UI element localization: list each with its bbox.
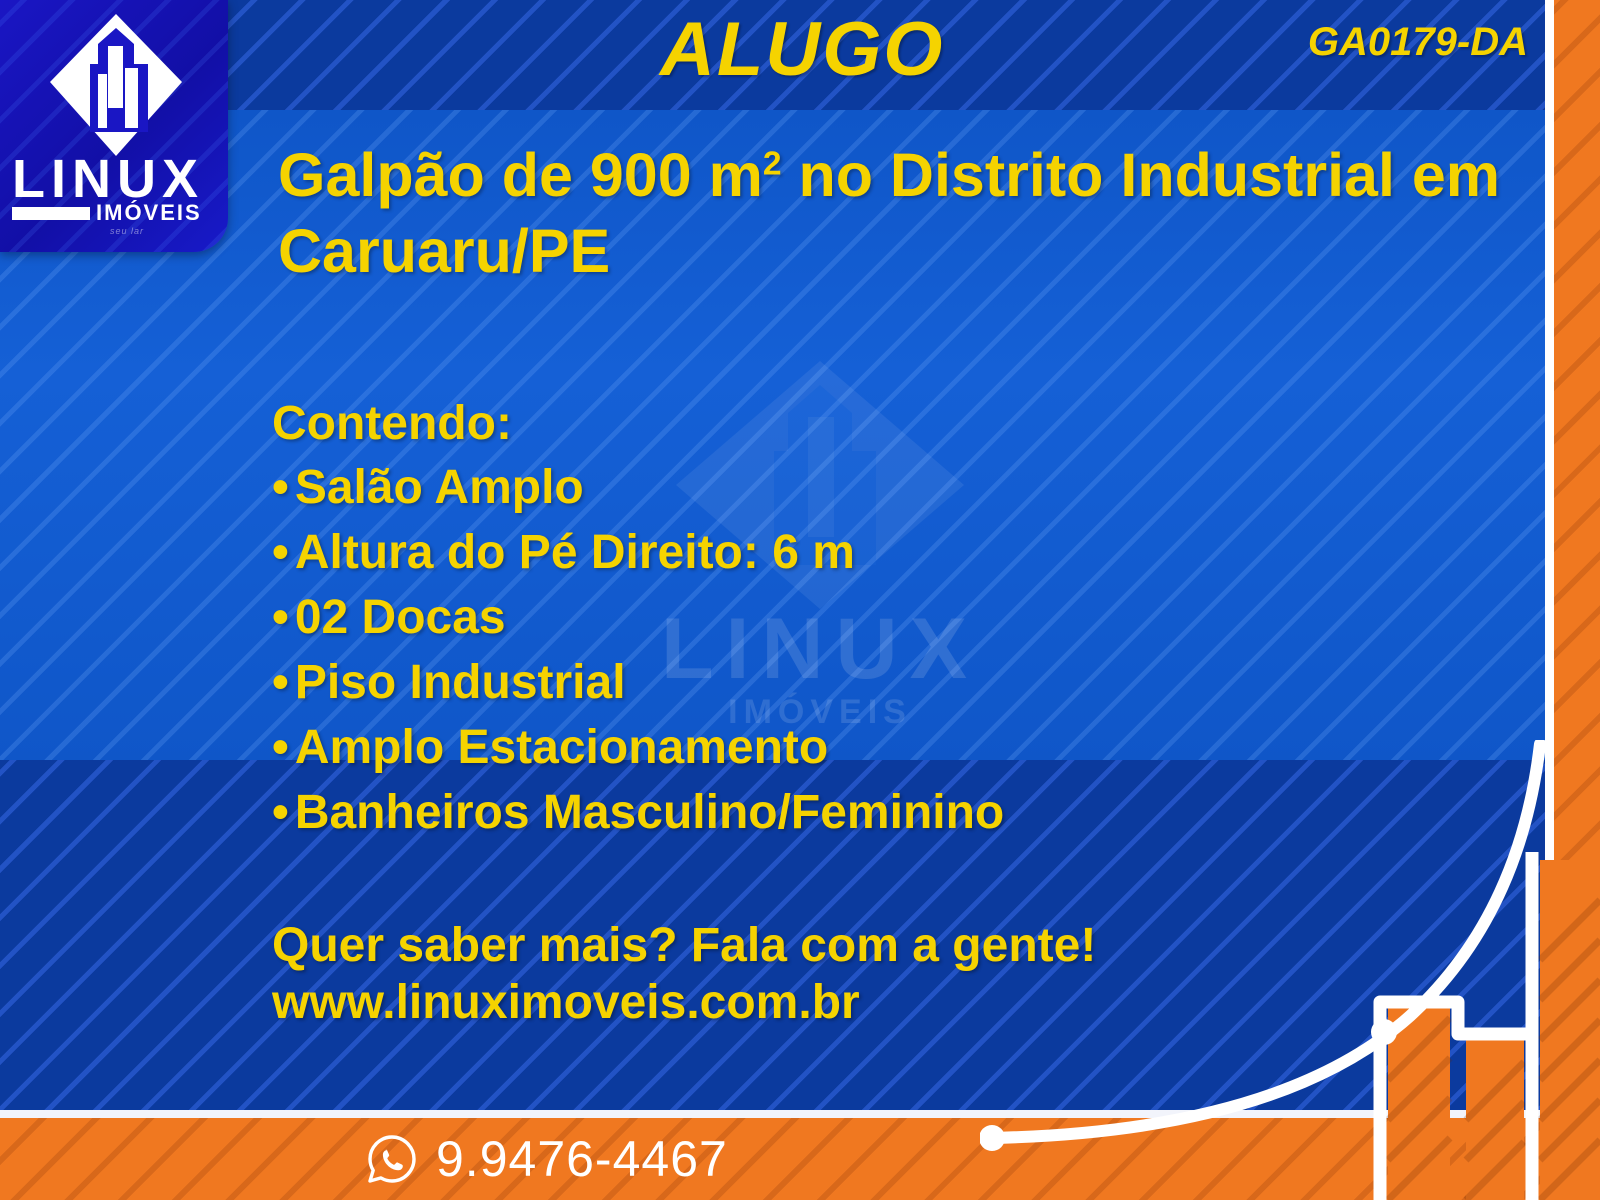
contact-bar: 9.9476-4467 (0, 1118, 1600, 1200)
list-item-label: Piso Industrial (295, 656, 626, 709)
contact-bar-divider (0, 1110, 1600, 1118)
reference-code: GA0179-DA (1308, 22, 1528, 62)
bullet-icon: • (272, 721, 289, 774)
headline-line1-after: no Distrito Industrial em (782, 141, 1501, 209)
rental-advertisement-poster: LINUX IMÓVEIS LINUX IMÓVEIS seu lar ALUG… (0, 0, 1600, 1200)
phone-number[interactable]: 9.9476-4467 (436, 1134, 728, 1184)
logo-rule-bar (12, 207, 90, 220)
bullet-icon: • (272, 461, 289, 514)
deal-type-title: ALUGO (660, 12, 944, 88)
logo-wordmark: LINUX (12, 152, 216, 206)
bullet-icon: • (272, 786, 289, 839)
bullet-icon: • (272, 526, 289, 579)
features-section: Contendo: •Salão Amplo •Altura do Pé Dir… (272, 400, 1422, 854)
company-logo-badge[interactable]: LINUX IMÓVEIS seu lar (0, 0, 228, 252)
logo-subtitle-row: IMÓVEIS (12, 202, 218, 224)
list-item: •02 Docas (272, 594, 1422, 642)
list-item: •Banheiros Masculino/Feminino (272, 789, 1422, 837)
website-url[interactable]: www.linuximoveis.com.br (272, 975, 1096, 1032)
list-item: •Amplo Estacionamento (272, 724, 1422, 772)
right-rail-separator (1545, 0, 1554, 1120)
list-item-label: Banheiros Masculino/Feminino (295, 786, 1004, 839)
property-headline: Galpão de 900 m2 no Distrito Industrial … (278, 138, 1508, 289)
bullet-icon: • (272, 591, 289, 644)
cta-question: Quer saber mais? Fala com a gente! (272, 918, 1096, 975)
headline-line1-before: Galpão de 900 m (278, 141, 763, 209)
right-orange-rail (1554, 0, 1600, 1120)
list-item: •Altura do Pé Direito: 6 m (272, 529, 1422, 577)
features-label: Contendo: (272, 400, 1422, 448)
whatsapp-icon[interactable] (366, 1133, 418, 1185)
headline-superscript: 2 (763, 146, 782, 183)
diagonal-stripe-texture (0, 1118, 1600, 1200)
list-item: •Piso Industrial (272, 659, 1422, 707)
headline-line2: Caruaru/PE (278, 217, 610, 285)
logo-subtitle: IMÓVEIS (96, 202, 202, 224)
list-item-label: Amplo Estacionamento (295, 721, 828, 774)
list-item-label: Salão Amplo (295, 461, 584, 514)
list-item-label: 02 Docas (295, 591, 506, 644)
building-diamond-icon (46, 10, 186, 160)
bullet-icon: • (272, 656, 289, 709)
diagonal-stripe-texture (1554, 0, 1600, 1120)
logo-tagline: seu lar (110, 226, 144, 236)
call-to-action-section: Quer saber mais? Fala com a gente! www.l… (272, 918, 1096, 1031)
list-item-label: Altura do Pé Direito: 6 m (295, 526, 855, 579)
contact-info[interactable]: 9.9476-4467 (366, 1133, 728, 1185)
list-item: •Salão Amplo (272, 464, 1422, 512)
